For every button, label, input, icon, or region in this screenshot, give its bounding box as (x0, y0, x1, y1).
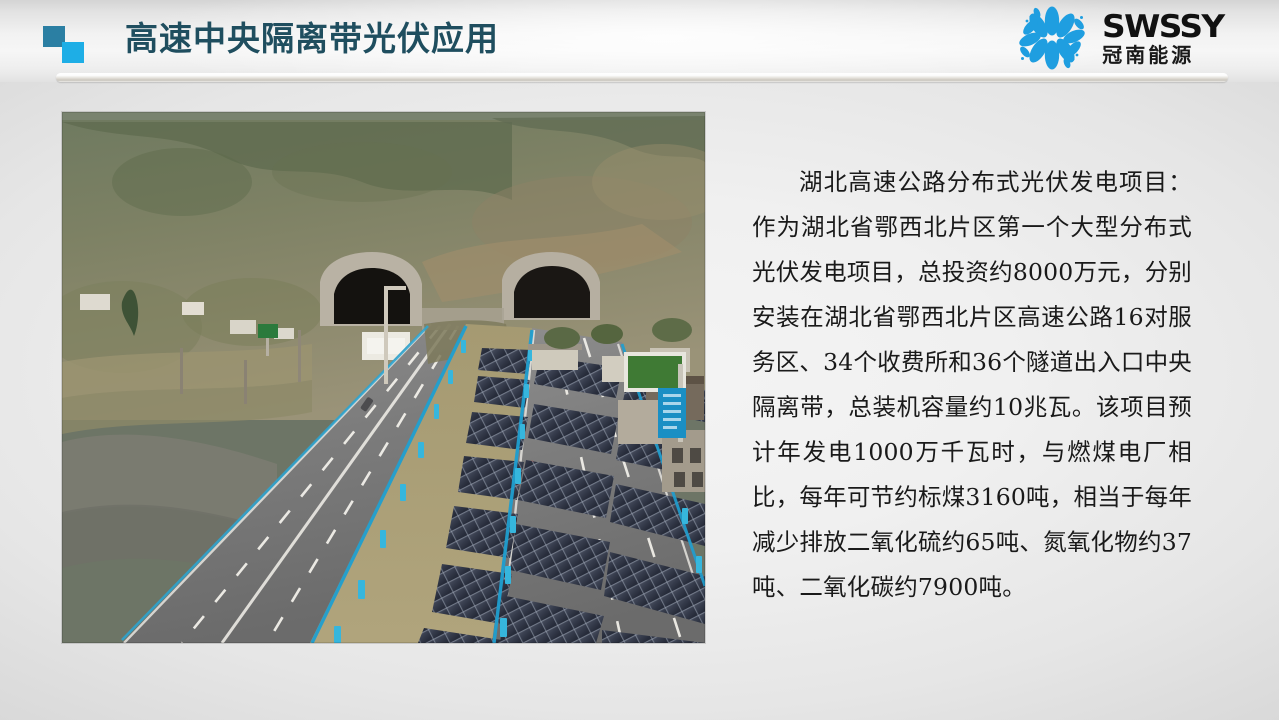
logo-wordmark: SWSSY (1102, 12, 1224, 43)
page-title: 高速中央隔离带光伏应用 (125, 19, 499, 60)
logo-subtitle: 冠南能源 (1102, 44, 1217, 67)
company-logo: SWSSY 冠南能源 (1010, 3, 1217, 73)
project-photo (62, 112, 705, 643)
aerial-highway-solar-photo (62, 112, 705, 643)
project-description-paragraph: 湖北高速公路分布式光伏发电项目：作为湖北省鄂西北片区第一个大型分布式光伏发电项目… (752, 160, 1192, 610)
blue-petal-flower-logo-icon (1010, 5, 1094, 71)
logo-text-block: SWSSY 冠南能源 (1102, 10, 1217, 67)
presentation-slide: 高速中央隔离带光伏应用 (0, 0, 1279, 720)
decorative-square-light (62, 42, 84, 63)
header-divider (56, 73, 1228, 82)
